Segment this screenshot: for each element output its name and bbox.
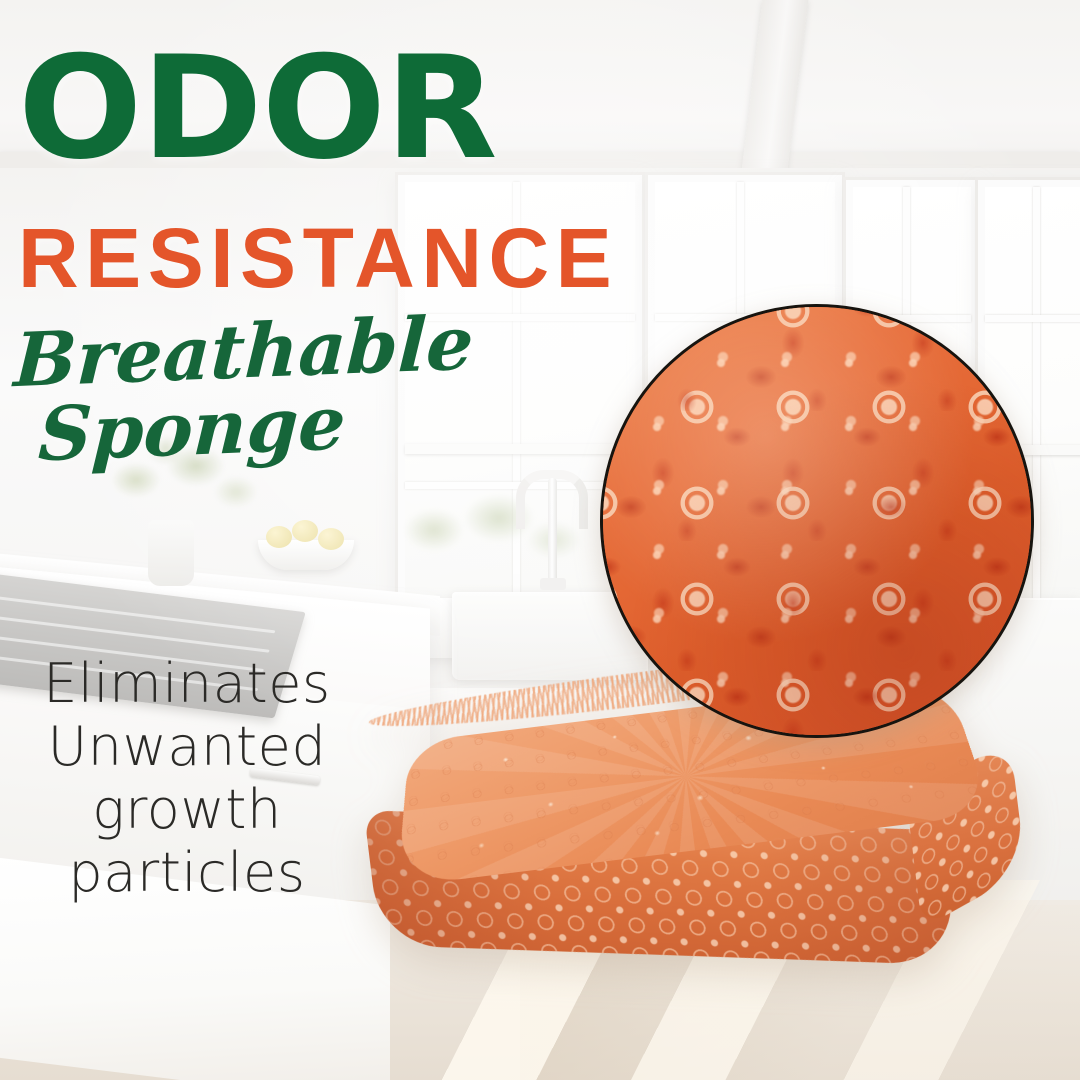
product-marketing-image: ODOR RESISTANCE Breathable Sponge Elimin… [0, 0, 1080, 1080]
faucet-neck [548, 478, 557, 588]
faucet-base [540, 578, 566, 590]
script-subheadline: Breathable Sponge [9, 308, 475, 472]
body-line-4: particles [18, 841, 356, 904]
lemon [292, 520, 318, 542]
body-line-3: growth [18, 778, 356, 841]
lemon [318, 528, 344, 550]
magnifier-shading [603, 307, 1031, 735]
cooktop-grate [0, 614, 270, 653]
headline-resistance: RESISTANCE [18, 216, 618, 300]
body-copy: Eliminates Unwanted growth particles [18, 652, 356, 904]
window-mullion-vertical [1033, 187, 1040, 607]
body-line-1: Eliminates [18, 652, 356, 715]
magnifier-circle [600, 304, 1034, 738]
lemon [266, 526, 292, 548]
glass-vase [148, 520, 194, 586]
body-line-2: Unwanted [18, 715, 356, 778]
headline-odor: ODOR [18, 44, 497, 175]
